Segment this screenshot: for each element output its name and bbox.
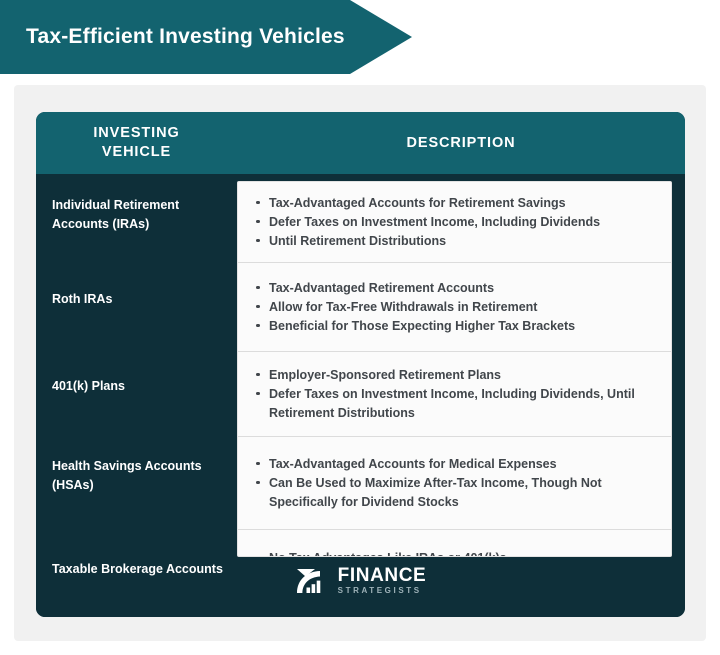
column-header-description: DESCRIPTION bbox=[237, 112, 685, 174]
page-title: Tax-Efficient Investing Vehicles bbox=[0, 25, 345, 49]
table-row: Employer-Sponsored Retirement Plans Defe… bbox=[238, 352, 671, 437]
brand-logo: FINANCE STRATEGISTS bbox=[36, 566, 685, 595]
table-row: No Tax Advantages Like IRAs or 401(k)s U… bbox=[238, 530, 671, 557]
bullet-list: Tax-Advantaged Retirement Accounts Allow… bbox=[252, 279, 657, 336]
bullet-list: Tax-Advantaged Accounts for Retirement S… bbox=[252, 194, 657, 251]
table-body: Individual Retirement Accounts (IRAs) Ro… bbox=[36, 174, 685, 617]
list-item: Beneficial for Those Expecting Higher Ta… bbox=[252, 317, 657, 336]
list-item: Until Retirement Distributions bbox=[252, 232, 657, 251]
list-item: Tax-Advantaged Retirement Accounts bbox=[252, 279, 657, 298]
list-item: Defer Taxes on Investment Income, Includ… bbox=[252, 213, 657, 232]
list-item: Tax-Advantaged Accounts for Retirement S… bbox=[252, 194, 657, 213]
column-header-line-1: INVESTING bbox=[93, 124, 179, 143]
logo-subtitle: STRATEGISTS bbox=[338, 587, 427, 595]
column-header-description-label: DESCRIPTION bbox=[407, 134, 516, 153]
bullet-list: Tax-Advantaged Accounts for Medical Expe… bbox=[252, 455, 657, 512]
bullet-list: No Tax Advantages Like IRAs or 401(k)s U… bbox=[252, 549, 657, 557]
finance-strategists-bar-chart-icon bbox=[295, 567, 329, 595]
table-row: Individual Retirement Accounts (IRAs) bbox=[36, 174, 237, 255]
investing-vehicles-table: INVESTING VEHICLE DESCRIPTION Individual… bbox=[36, 112, 685, 617]
table-row: Health Savings Accounts (HSAs) bbox=[36, 429, 237, 522]
infographic-canvas: Tax-Efficient Investing Vehicles INVESTI… bbox=[0, 0, 720, 655]
table-header-row: INVESTING VEHICLE DESCRIPTION bbox=[36, 112, 685, 174]
table-row: Tax-Advantaged Accounts for Medical Expe… bbox=[238, 437, 671, 530]
title-banner: Tax-Efficient Investing Vehicles bbox=[0, 0, 412, 74]
description-column: Tax-Advantaged Accounts for Retirement S… bbox=[237, 181, 672, 557]
column-header-investing-vehicle: INVESTING VEHICLE bbox=[36, 112, 237, 174]
logo-wordmark: FINANCE STRATEGISTS bbox=[338, 566, 427, 595]
table-row: Tax-Advantaged Retirement Accounts Allow… bbox=[238, 263, 671, 352]
table-row: 401(k) Plans bbox=[36, 344, 237, 429]
list-item: Can Be Used to Maximize After-Tax Income… bbox=[252, 474, 657, 512]
list-item: Defer Taxes on Investment Income, Includ… bbox=[252, 385, 657, 423]
logo-name: FINANCE bbox=[338, 566, 427, 585]
list-item: No Tax Advantages Like IRAs or 401(k)s bbox=[252, 549, 657, 557]
table-row: Roth IRAs bbox=[36, 255, 237, 344]
vehicle-column: Individual Retirement Accounts (IRAs) Ro… bbox=[36, 174, 237, 557]
list-item: Employer-Sponsored Retirement Plans bbox=[252, 366, 657, 385]
list-item: Tax-Advantaged Accounts for Medical Expe… bbox=[252, 455, 657, 474]
table-row: Tax-Advantaged Accounts for Retirement S… bbox=[238, 182, 671, 263]
column-header-line-2: VEHICLE bbox=[93, 143, 179, 162]
bullet-list: Employer-Sponsored Retirement Plans Defe… bbox=[252, 366, 657, 423]
list-item: Allow for Tax-Free Withdrawals in Retire… bbox=[252, 298, 657, 317]
